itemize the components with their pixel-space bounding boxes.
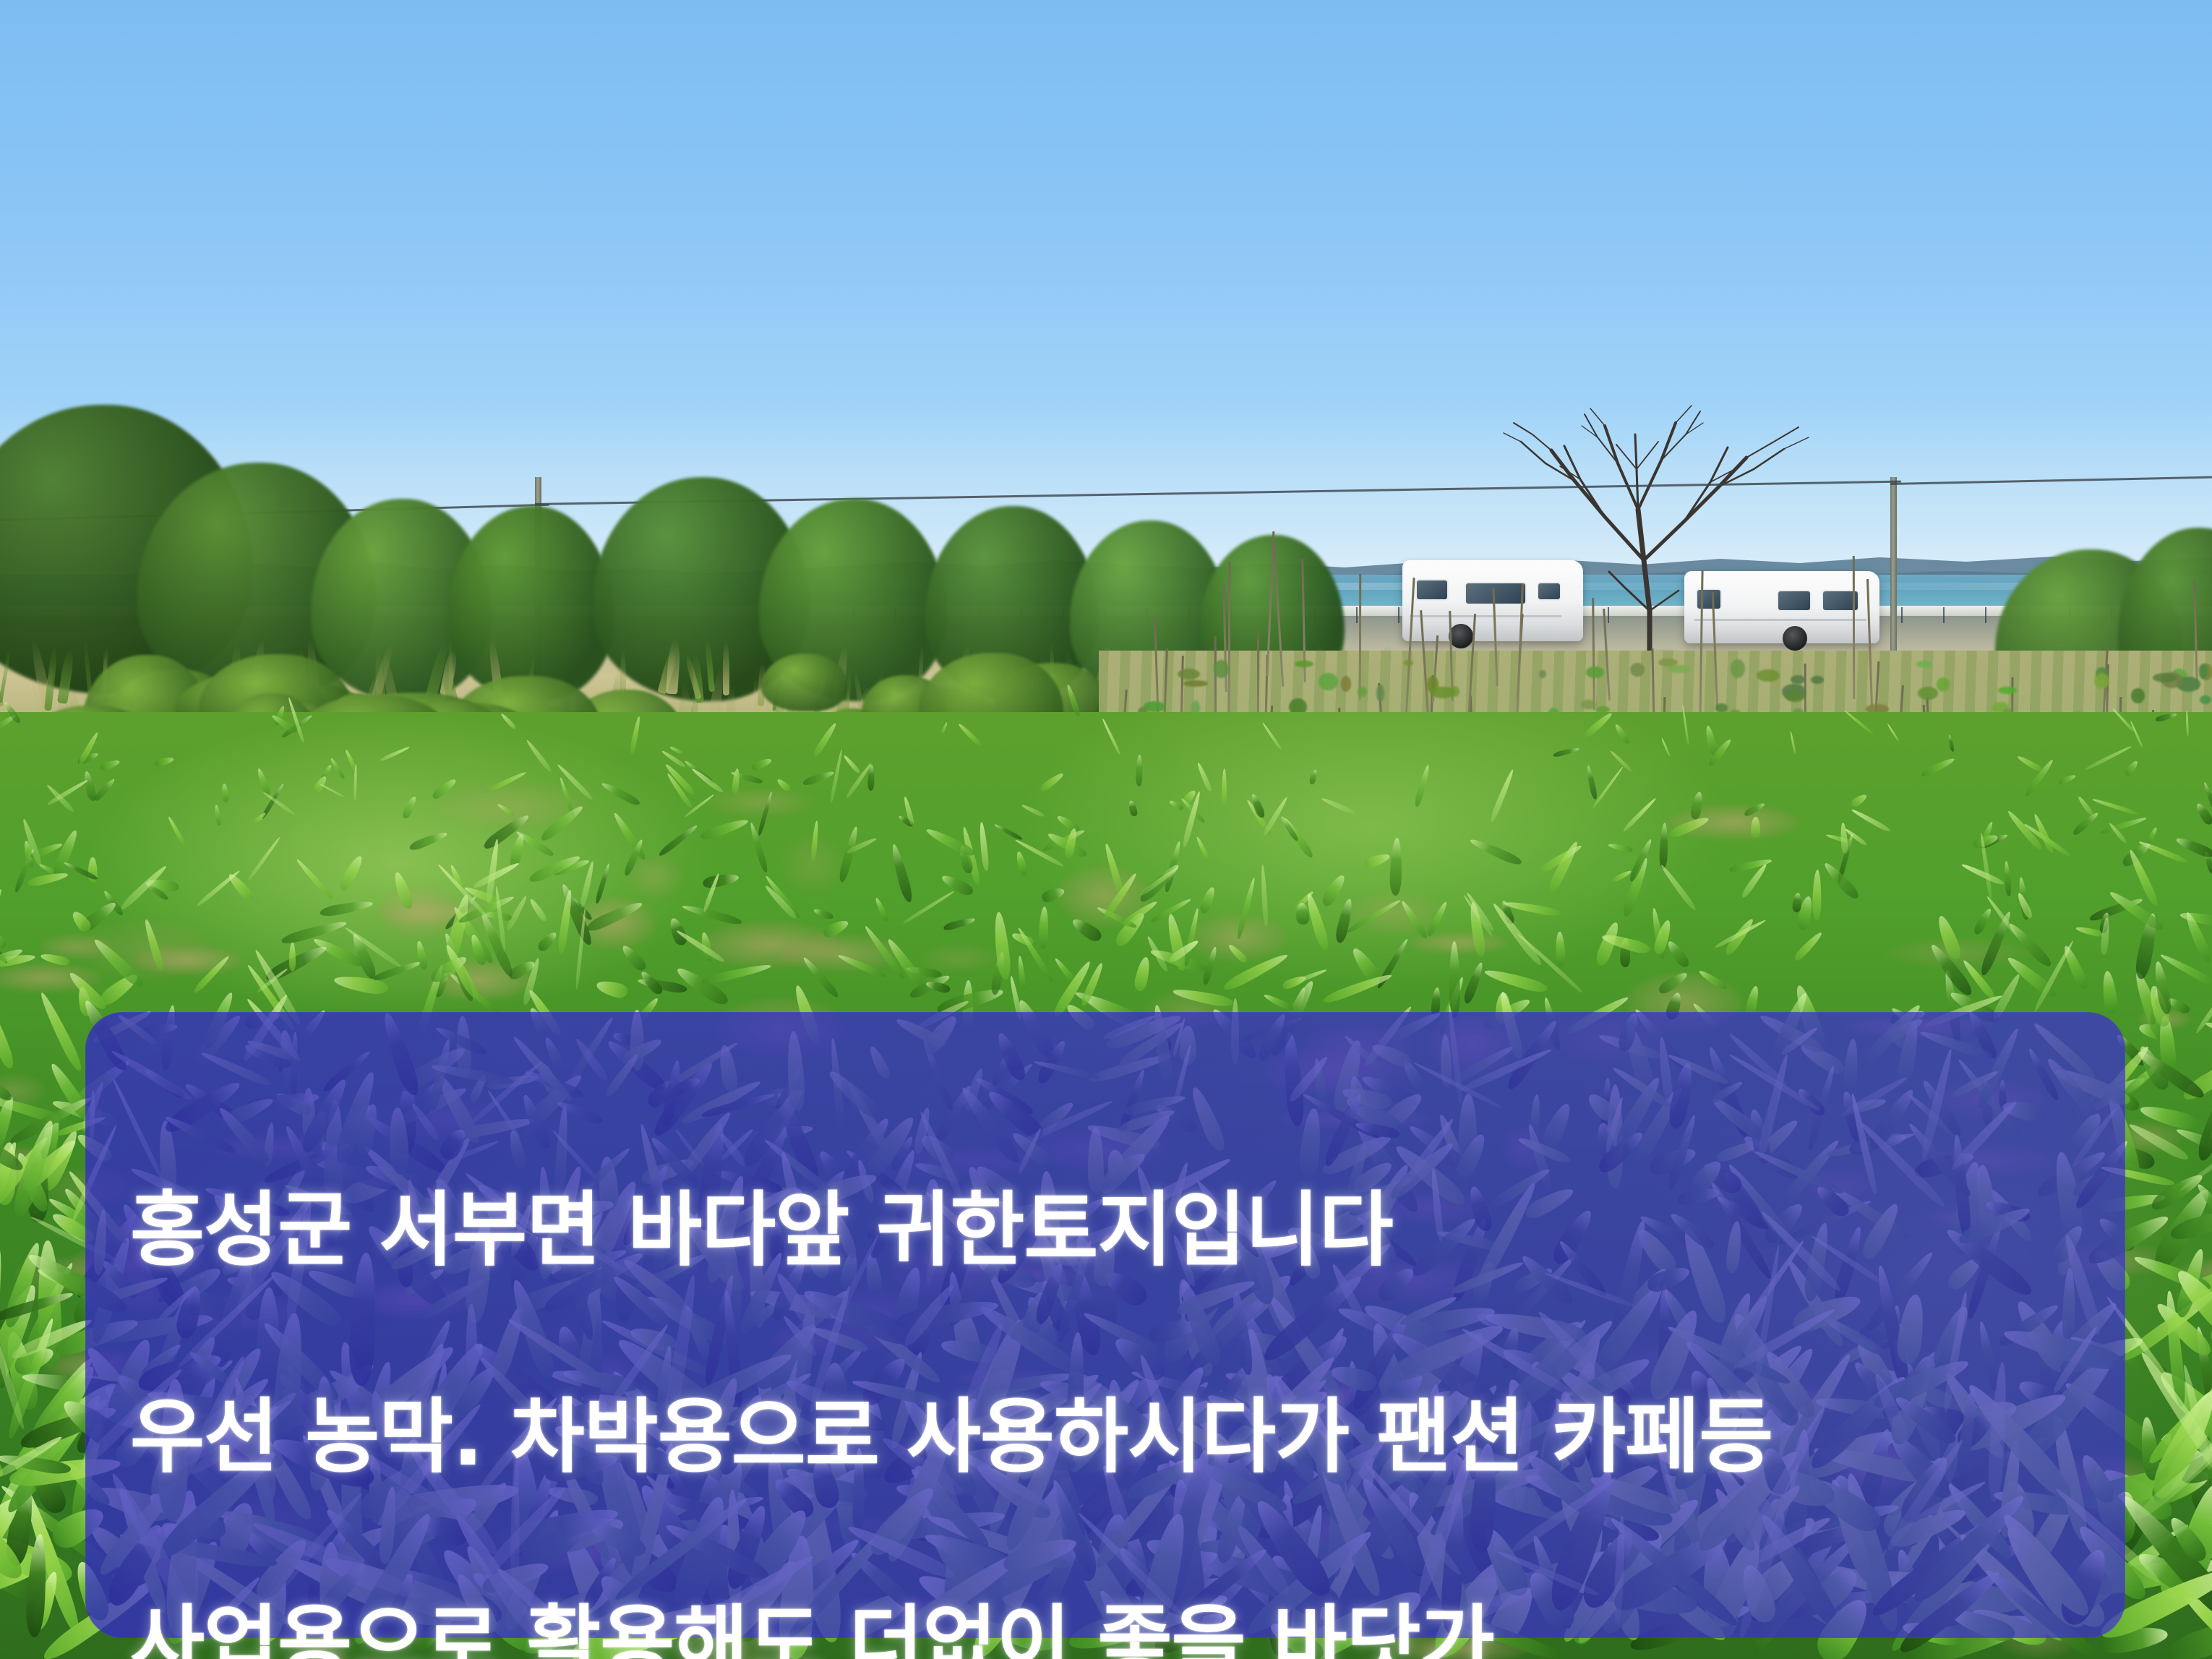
soil-patch bbox=[378, 883, 458, 938]
seedling bbox=[1918, 687, 1938, 700]
seedling bbox=[1731, 659, 1745, 677]
seedling bbox=[1586, 666, 1604, 678]
field-stake bbox=[1853, 556, 1855, 699]
seedling bbox=[1811, 676, 1824, 684]
seedling bbox=[1998, 687, 2016, 695]
caption-line-3: 사업용으로 활용해도 더없이 좋을 바닷가 bbox=[130, 1592, 2082, 1659]
soil-patch bbox=[707, 788, 814, 817]
seedling bbox=[1581, 700, 1596, 709]
field-stake bbox=[1359, 574, 1361, 700]
seedling bbox=[1358, 687, 1367, 697]
caption-line-1: 홍성군 서부면 바다앞 귀한토지입니다 bbox=[130, 1179, 2082, 1282]
seedling bbox=[1341, 676, 1351, 692]
seedling bbox=[1916, 661, 1932, 668]
seedling bbox=[1937, 677, 1950, 692]
seedling bbox=[1715, 703, 1728, 712]
seedling bbox=[2131, 688, 2145, 703]
seedling bbox=[1630, 663, 1645, 677]
seedling bbox=[2153, 673, 2177, 682]
caption-line-2: 우선 농막. 차박용으로 사용하시다가 팬션 카페등 bbox=[130, 1386, 2082, 1489]
soil-patch bbox=[628, 855, 683, 898]
photo-with-caption-overlay: 홍성군 서부면 바다앞 귀한토지입니다 우선 농막. 차박용으로 사용하시다가 … bbox=[0, 0, 2212, 1659]
seedling bbox=[2094, 673, 2109, 689]
seedling bbox=[1183, 680, 1208, 687]
caption-text-block: 홍성군 서부면 바다앞 귀한토지입니다 우선 농막. 차박용으로 사용하시다가 … bbox=[130, 1076, 2082, 1659]
motorhome-window-front bbox=[1415, 579, 1449, 601]
seedling bbox=[1214, 660, 1229, 678]
seedling bbox=[1431, 687, 1455, 698]
bush bbox=[761, 653, 848, 711]
seedling bbox=[1658, 659, 1678, 666]
soil-patch bbox=[920, 944, 1000, 972]
corn-leaf bbox=[1136, 755, 1143, 786]
field-stake bbox=[1227, 562, 1230, 712]
corn-leaf bbox=[1751, 817, 1760, 838]
